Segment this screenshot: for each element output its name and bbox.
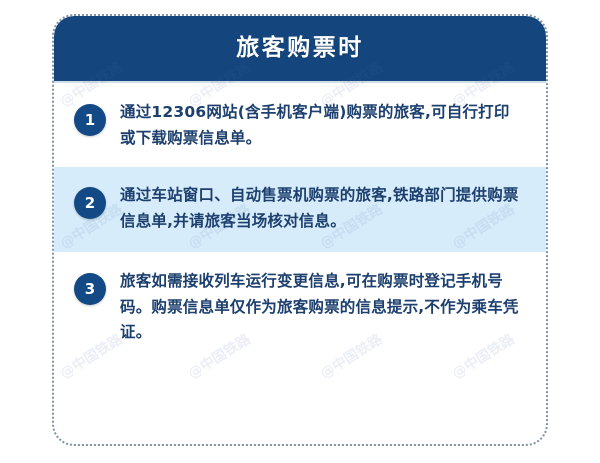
card-header: 旅客购票时 (54, 16, 546, 81)
item-number-badge: 1 (74, 104, 106, 136)
item-text: 旅客如需接收列车运行变更信息,可在购票时登记手机号码。购票信息单仅作为旅客购票的… (120, 269, 524, 346)
list-item: 1 通过12306网站(含手机客户端)购票的旅客,可自行打印或下载购票信息单。 (54, 83, 546, 167)
item-number-badge: 2 (74, 187, 106, 219)
item-list: 1 通过12306网站(含手机客户端)购票的旅客,可自行打印或下载购票信息单。 … (54, 83, 546, 444)
item-number-badge: 3 (74, 273, 106, 305)
list-item: 3 旅客如需接收列车运行变更信息,可在购票时登记手机号码。购票信息单仅作为旅客购… (54, 252, 546, 362)
item-text: 通过车站窗口、自动售票机购票的旅客,铁路部门提供购票信息单,并请旅客当场核对信息… (120, 183, 524, 234)
page-title: 旅客购票时 (236, 37, 364, 60)
list-item: 2 通过车站窗口、自动售票机购票的旅客,铁路部门提供购票信息单,并请旅客当场核对… (54, 167, 546, 252)
item-text: 通过12306网站(含手机客户端)购票的旅客,可自行打印或下载购票信息单。 (120, 100, 524, 151)
info-card: 旅客购票时 1 通过12306网站(含手机客户端)购票的旅客,可自行打印或下载购… (52, 14, 548, 446)
